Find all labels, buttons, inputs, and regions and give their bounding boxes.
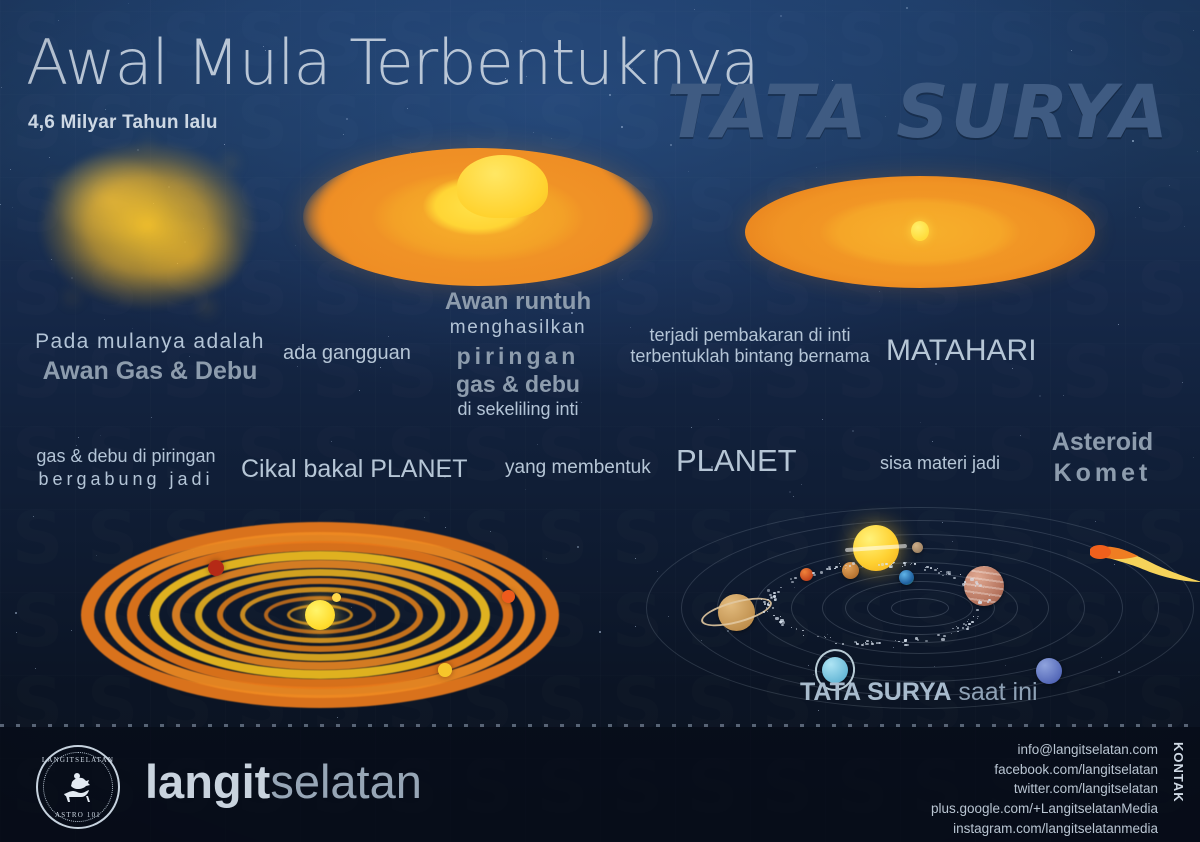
protoplanet-yellow [438,663,452,677]
horse-rider-icon [58,770,98,804]
asteroid [943,635,946,637]
asteroid [780,587,782,589]
komet-label: Komet [1020,459,1185,489]
asteroid-label: Asteroid [1020,428,1185,458]
asteroid [957,627,959,629]
asteroid [938,572,941,574]
collapse-line-1: Awan runtuh [418,288,618,316]
asteroid [967,621,968,622]
star-dot [1039,395,1041,397]
asteroid [854,641,857,643]
ss-label-thin: saat ini [951,678,1037,706]
asteroid [766,607,768,608]
star-dot [1182,382,1183,383]
star-dot [78,437,79,438]
asteroid [856,643,859,645]
star-dot [1184,226,1185,227]
asteroid [820,571,823,574]
asteroid [862,566,864,567]
collapse-line-2: menghasilkan [418,317,618,339]
asteroid [871,643,874,645]
asteroid [796,628,798,630]
star-dot [343,134,344,135]
asteroid [942,575,944,576]
footer-divider [0,724,1200,727]
asteroid [970,578,974,581]
star-dot [621,126,623,128]
star-dot [1,87,2,88]
star-dot [1139,207,1140,208]
collapse-line-3: piringan [418,343,618,370]
star-dot [651,369,652,370]
asteroid [902,642,904,644]
asteroid [989,595,990,596]
s-watermark: S [675,166,750,249]
asteroid [987,601,989,603]
contact-item[interactable]: instagram.com/langitselatanmedia [931,819,1158,839]
star-dot [297,366,298,367]
stage-cloud-caption-line2: Awan Gas & Debu [30,357,270,387]
asteroid [941,638,945,641]
kontak-label: KONTAK [1171,742,1186,803]
asteroid [830,637,832,638]
star-dot [537,444,538,445]
seal-top-text: LANGITSELATAN [38,756,118,764]
asteroid [777,591,780,593]
asteroid [924,569,926,571]
asteroid [861,644,864,646]
asteroid [767,589,770,591]
s-watermark: S [0,581,75,664]
star-dot [599,631,601,633]
asteroid [865,643,869,646]
asteroid [775,617,778,620]
star-dot [58,20,59,21]
cikal-bakal-planet-label: Cikal bakal PLANET [241,455,467,485]
asteroid [973,593,974,594]
star-dot [780,15,782,17]
stage-star-caption: terjadi pembakaran di inti terbentuklah … [630,325,870,367]
asteroid [977,618,978,619]
star-dot [337,717,338,718]
asteroid [876,642,879,644]
asteroid [946,574,947,575]
asteroid [863,643,864,644]
asteroid [925,640,928,642]
s-watermark: S [0,498,75,581]
star-dot [577,546,579,548]
star-dot [789,491,791,493]
star-dot [1193,30,1194,31]
asteroid [937,568,939,570]
asteroid [842,643,844,645]
asteroid [966,628,969,630]
asteroid [768,602,769,603]
star-dot [691,427,692,428]
asteroid [794,577,797,579]
star-dot [879,291,880,292]
asteroid [781,624,784,626]
asteroid [878,642,881,644]
stage-cloud-caption-line1: Pada mulanya adalah [30,330,270,355]
asteroid [891,564,892,565]
asteroid [934,569,937,571]
seal-bottom-text: ASTRO 101 [38,811,118,819]
asteroid [940,571,942,572]
star-dot [407,108,408,109]
brand-thin: selatan [270,755,422,808]
asteroid [953,577,956,579]
asteroid [852,562,855,565]
star-dot [801,484,802,485]
row2-left-line1: gas & debu di piringan [26,446,226,467]
asteroid [817,636,819,637]
asteroid [889,565,893,568]
star-dot [718,419,719,420]
asteroid [835,643,836,644]
asteroid [781,621,784,624]
infographic-poster: SSSSSSSSSSSSSSSSSSSSSSSSSSSSSSSSSSSSSSSS… [0,0,1200,842]
asteroid [951,633,952,634]
star-dot [1071,50,1072,51]
asteroid [767,611,768,612]
s-watermark: S [1125,166,1200,249]
star-dot [295,245,296,246]
stage-cloud-caption: Pada mulanya adalah Awan Gas & Debu [30,330,270,386]
asteroid [845,565,847,567]
asteroid [840,566,841,567]
sisa-materi-label: sisa materi jadi [880,453,1000,474]
star-dot [688,171,689,172]
s-watermark: S [675,249,750,332]
star-dot [551,138,552,139]
collapse-line-5: di sekeliling inti [418,399,618,420]
comet [1090,542,1200,584]
star-dot [100,435,101,436]
asteroid [773,615,775,616]
star-dot [388,336,389,337]
asteroid [962,583,965,586]
star-dot [15,612,17,614]
big-title-tata-surya: TATA SURYA [667,70,1170,155]
star-dot [793,496,794,497]
star-dot [380,367,381,368]
gas-cloud-illustration [12,120,284,340]
star-line-1: terjadi pembakaran di inti [630,325,870,346]
asteroid [975,585,977,586]
contact-list: info@langitselatan.comfacebook.com/langi… [931,740,1158,839]
tata-surya-saat-ini-label: TATA SURYA saat ini [800,678,1038,707]
s-watermark: S [1125,332,1200,415]
brand-bold: langit [145,755,270,808]
star-dot [151,417,152,418]
collapse-line-4: gas & debu [418,371,618,398]
asteroid-komet-caption: Asteroid Komet [1020,428,1185,488]
star-dot [822,419,823,420]
star-dot [525,489,526,490]
asteroid [988,599,991,602]
asteroid [930,567,932,569]
star-dot [346,118,348,120]
protoplanet-red [208,560,224,576]
asteroid [910,564,912,565]
asteroid [769,594,772,597]
stage-collapse-caption: Awan runtuh menghasilkan piringan gas & … [418,288,618,420]
star-dot [1135,217,1136,218]
langitselatan-seal-logo: LANGITSELATAN ASTRO 101 [36,745,120,829]
asteroid [834,568,835,569]
asteroid [813,574,816,577]
star-line-2: terbentuklah bintang bernama [630,346,870,367]
planet-label: PLANET [676,443,797,480]
asteroid [895,640,896,641]
asteroid [937,634,940,636]
star-dot [16,632,17,633]
asteroid [791,581,794,583]
asteroid [904,641,906,643]
star-dot [128,3,129,4]
asteroid [971,621,973,623]
asteroid [968,619,969,620]
asteroid [773,592,776,594]
asteroid [983,587,984,588]
star-dot [1193,457,1194,458]
asteroid [978,601,982,604]
star-dot [816,167,817,168]
star-dot [932,441,933,442]
asteroid [914,563,916,565]
asteroid [761,599,762,600]
contact-item[interactable]: info@langitselatan.com [931,740,1158,760]
star-dot [35,668,36,669]
s-watermark: S [1125,249,1200,332]
asteroid [904,564,906,566]
asteroid [902,566,904,567]
row2-left-caption: gas & debu di piringan bergabung jadi [26,446,226,490]
protoplanet-orange [502,590,515,603]
asteroid [898,641,900,642]
yang-membentuk-label: yang membentuk [505,457,651,479]
asteroid [849,565,851,567]
matahari-label: MATAHARI [886,333,1037,368]
asteroid [917,639,919,641]
page-title: Awal Mula Terbentuknya [26,26,759,99]
star-dot [622,279,623,280]
asteroid [979,584,982,587]
star-formation-disk-illustration [745,176,1095,288]
star-dot [1197,151,1198,152]
star-dot [331,441,332,442]
asteroid [881,563,884,566]
asteroid [957,631,959,633]
asteroid [767,599,769,601]
star-dot [852,430,854,432]
asteroid [962,627,964,628]
protosun [305,600,335,630]
asteroid [948,573,951,575]
star-dot [920,422,921,423]
star-dot [71,630,72,631]
asteroid [767,604,770,607]
asteroid [973,616,974,617]
star-dot [359,390,360,391]
asteroid [764,603,767,605]
asteroid [926,566,928,568]
asteroid [906,562,907,563]
star-dot [1118,324,1119,325]
protoplanet-small-yellow [332,593,341,602]
contact-item[interactable]: twitter.com/langitselatan [931,779,1158,799]
asteroid [839,563,840,564]
asteroid [803,635,804,636]
row2-left-line2: bergabung jadi [26,469,226,490]
star-dot [694,9,695,10]
star-dot [33,516,34,517]
star-dot [1169,185,1170,186]
asteroid [772,607,774,609]
asteroid [791,627,792,628]
star-dot [906,7,908,9]
asteroid [878,564,880,566]
asteroid [802,630,804,632]
protoplanetary-system-illustration [80,520,560,710]
star-dot [424,517,425,518]
asteroid [829,568,831,570]
brand-wordmark: langitselatan [145,758,422,805]
stage-disturbance-caption: ada gangguan [283,342,411,366]
star-dot [635,558,636,559]
asteroid [960,574,961,575]
contact-item[interactable]: facebook.com/langitselatan [931,760,1158,780]
asteroid [845,568,846,569]
star-dot [1063,395,1064,396]
star-dot [533,132,534,133]
asteroid [885,563,888,565]
asteroid [780,616,781,617]
s-watermark: S [1050,332,1125,415]
asteroid [965,624,967,626]
asteroid [968,623,971,625]
star-dot [635,626,636,627]
asteroid [952,628,954,629]
asteroid [911,563,913,564]
collapsing-disk-illustration [303,148,653,286]
asteroid [763,611,765,613]
asteroid [976,609,979,611]
ss-label-bold: TATA SURYA [800,678,951,706]
asteroid [903,562,905,564]
contact-item[interactable]: plus.google.com/+LangitselatanMedia [931,799,1158,819]
